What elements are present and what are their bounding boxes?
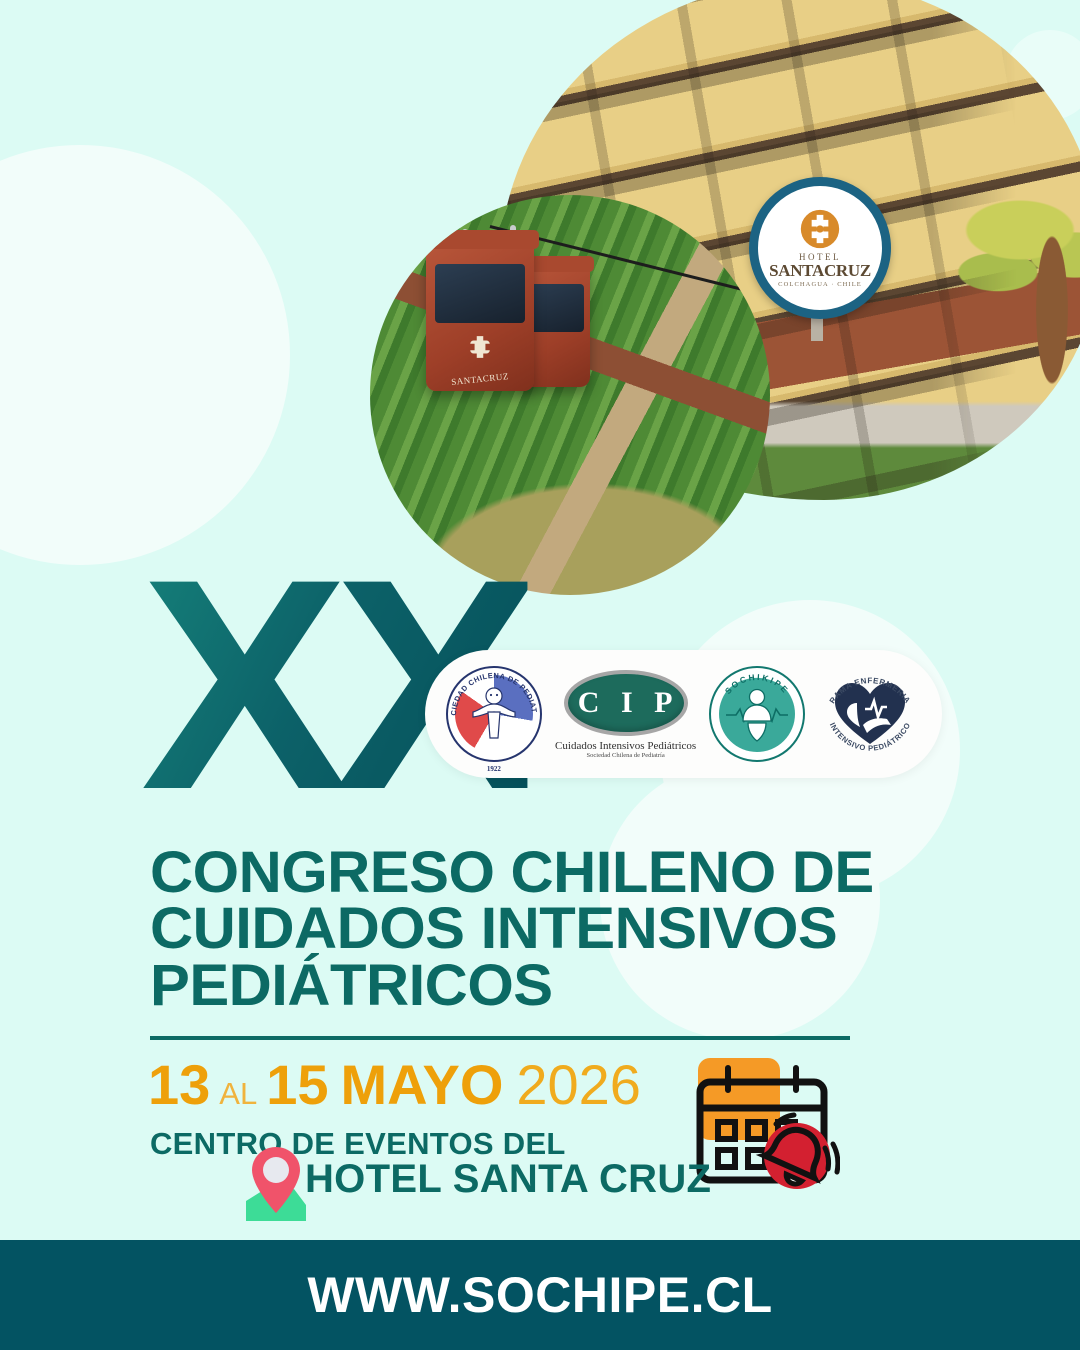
cip-letters: C I P	[572, 686, 680, 720]
santacruz-cross-emblem-small	[465, 332, 495, 362]
website-url[interactable]: WWW.SOCHIPE.CL	[307, 1266, 772, 1324]
hotel-badge-line2: SANTACRUZ	[769, 262, 871, 279]
baby-figure-icon	[471, 686, 517, 742]
decorative-circle-left	[0, 145, 290, 565]
date-month: MAYO	[329, 1052, 504, 1117]
divider	[150, 1036, 850, 1040]
sochikipe-arc-text: SOCHIKIPE	[709, 666, 805, 762]
event-dates: 13 AL 15 MAYO 2026	[148, 1052, 641, 1117]
page-title: CONGRESO CHILENO DE CUIDADOS INTENSIVOS …	[150, 845, 964, 1014]
cip-subtitle: Cuidados Intensivos Pediátricos	[555, 740, 696, 752]
logo-sochikipe: SOCHIKIPE	[709, 666, 805, 762]
title-line-3: PEDIÁTRICOS	[150, 958, 964, 1014]
poster-canvas: SANTACRUZ HOTEL SANTACRUZ COLCHAGUA · CH…	[0, 0, 1080, 1350]
svg-text:SOCHIKIPE: SOCHIKIPE	[723, 672, 792, 696]
date-year: 2026	[503, 1052, 641, 1117]
gondola-brand-text: SANTACRUZ	[451, 371, 510, 387]
photo-collage: SANTACRUZ HOTEL SANTACRUZ COLCHAGUA · CH…	[370, 0, 1080, 590]
hotel-logo-badge: HOTEL SANTACRUZ COLCHAGUA · CHILE	[749, 177, 891, 319]
date-day-end: 15	[266, 1052, 328, 1117]
footer-bar: WWW.SOCHIPE.CL	[0, 1240, 1080, 1350]
cip-subtitle2: Sociedad Chilena de Pediatría	[587, 752, 665, 759]
logo-rama-enfermeria: RAMA ENFERMERIA INTENSIVO PEDIÁTRICO	[819, 666, 921, 762]
map-pin-icon	[232, 1143, 320, 1225]
hotel-badge-line3: COLCHAGUA · CHILE	[778, 281, 862, 288]
svg-text:RAMA ENFERMERIA: RAMA ENFERMERIA	[828, 676, 913, 705]
ornate-cross-emblem	[800, 209, 840, 249]
date-day-start: 13	[148, 1052, 210, 1117]
title-line-1: CONGRESO CHILENO DE	[150, 845, 964, 901]
logo-cuidados-intensivos-pediatricos: C I P Cuidados Intensivos Pediátricos So…	[556, 670, 696, 759]
svg-text:INTENSIVO PEDIÁTRICO: INTENSIVO PEDIÁTRICO	[828, 721, 912, 753]
organizer-logos-strip: SOCIEDAD CHILENA DE PEDIATRIA 1922 C I P…	[425, 650, 942, 778]
hotel-badge-line1: HOTEL	[799, 252, 841, 262]
rama-arc-text: RAMA ENFERMERIA INTENSIVO PEDIÁTRICO	[819, 666, 921, 762]
logo-sociedad-chilena-de-pediatria: SOCIEDAD CHILENA DE PEDIATRIA 1922	[446, 666, 542, 762]
hotel-santacruz-sign: HOTEL SANTACRUZ COLCHAGUA · CHILE	[749, 177, 895, 337]
title-line-2: CUIDADOS INTENSIVOS	[150, 901, 964, 957]
date-connector: AL	[210, 1076, 266, 1112]
sochipe-founding-year: 1922	[487, 765, 501, 773]
gondola-cabin-front: SANTACRUZ	[426, 243, 534, 391]
calendar-bell-icon	[692, 1052, 840, 1198]
venue-line-2: HOTEL SANTA CRUZ	[305, 1157, 711, 1202]
